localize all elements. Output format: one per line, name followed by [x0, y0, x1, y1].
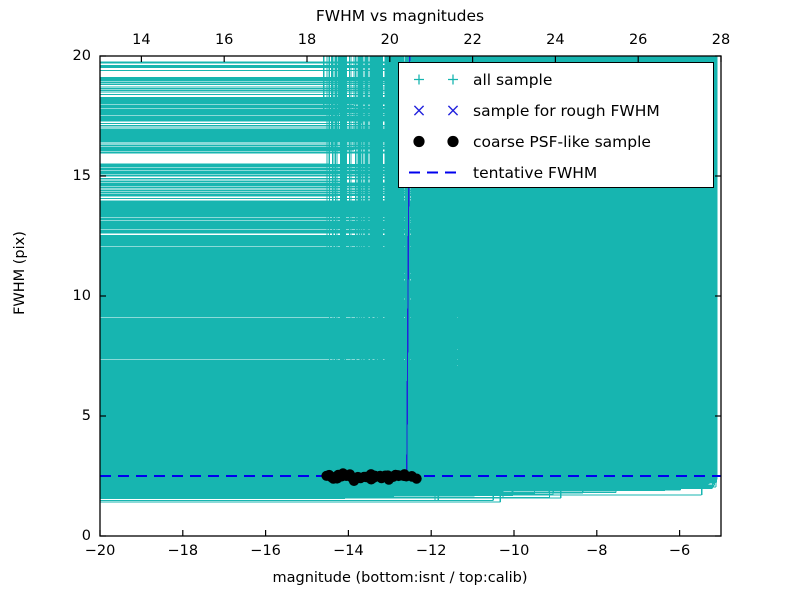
bottom-tick-label: −8: [586, 543, 607, 559]
legend: all samplesample for rough FWHMcoarse PS…: [398, 62, 714, 188]
left-tick-label: 10: [73, 288, 91, 304]
top-tick-label: 22: [463, 32, 481, 48]
top-tick-label: 16: [215, 32, 233, 48]
dashed-line: [399, 157, 473, 188]
legend-item-label: coarse PSF-like sample: [473, 133, 651, 151]
legend-item-label: tentative FWHM: [473, 164, 597, 182]
bottom-tick-label: −12: [416, 543, 447, 559]
legend-item: coarse PSF-like sample: [399, 126, 715, 157]
left-tick-label: 0: [82, 528, 91, 544]
bottom-tick-label: −14: [333, 543, 364, 559]
legend-item: tentative FWHM: [399, 157, 715, 188]
top-tick-label: 28: [712, 32, 730, 48]
left-tick-label: 15: [73, 168, 91, 184]
top-tick-label: 26: [629, 32, 647, 48]
top-tick-label: 24: [546, 32, 564, 48]
left-tick-label: 5: [82, 408, 91, 424]
top-tick-label: 20: [381, 32, 399, 48]
bottom-tick-label: −18: [167, 543, 198, 559]
top-tick-label: 14: [132, 32, 150, 48]
y-axis-label: FWHM (pix): [12, 193, 28, 353]
legend-item-label: sample for rough FWHM: [473, 102, 660, 120]
plus-marker: [399, 64, 473, 95]
legend-item: sample for rough FWHM: [399, 95, 715, 126]
figure-canvas: FWHM vs magnitudes −20−18−16−14−12−10−8−…: [0, 0, 800, 600]
bottom-tick-label: −10: [499, 543, 530, 559]
x-axis-label: magnitude (bottom:isnt / top:calib): [0, 570, 800, 586]
dot-marker: [399, 126, 473, 157]
bottom-tick-label: −20: [85, 543, 116, 559]
cross-marker: [399, 95, 473, 126]
left-tick-label: 20: [73, 48, 91, 64]
top-tick-label: 18: [298, 32, 316, 48]
bottom-tick-label: −16: [250, 543, 281, 559]
legend-item: all sample: [399, 64, 715, 95]
legend-item-label: all sample: [473, 71, 552, 89]
bottom-tick-label: −6: [669, 543, 690, 559]
